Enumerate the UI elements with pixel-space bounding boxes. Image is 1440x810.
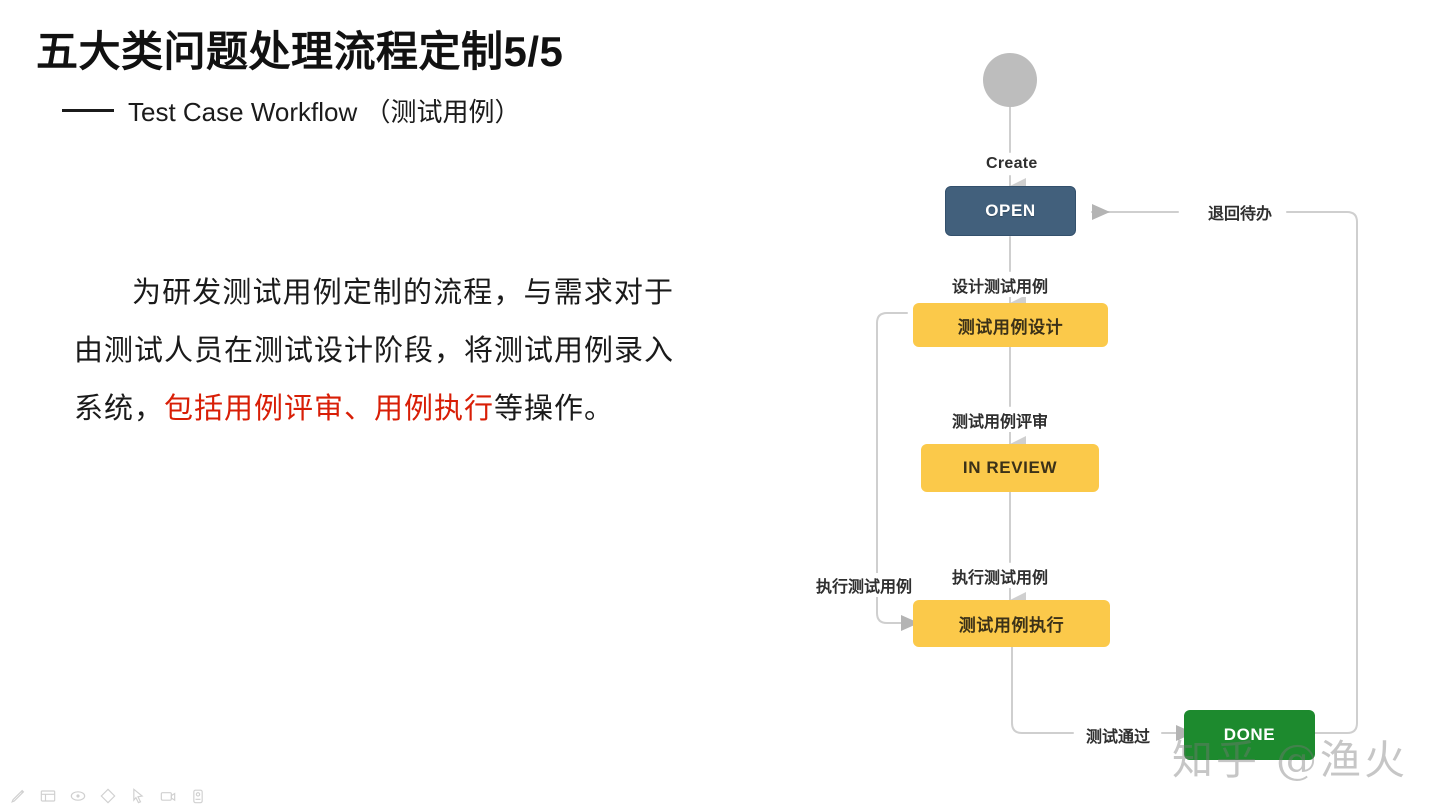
workflow-node-test-case-execute[interactable]: 测试用例执行: [913, 600, 1110, 647]
transition-label-design-case: 设计测试用例: [947, 273, 1053, 297]
body-highlight: 包括用例评审、用例执行: [164, 391, 494, 425]
subtitle-text: Test Case Workflow （测试用例）: [128, 92, 520, 129]
em-dash-rule: [62, 109, 114, 112]
transition-label-return-todo: 退回待办: [1203, 200, 1277, 224]
body-paragraph: 为研发测试用例定制的流程，与需求对于由测试人员在测试设计阶段，将测试用例录入系统…: [74, 263, 674, 437]
transition-label-review-case: 测试用例评审: [947, 408, 1053, 432]
workflow-start-circle: [983, 53, 1037, 107]
transition-label-execute-case-mid: 执行测试用例: [947, 564, 1053, 588]
test-case-workflow-diagram: Create OPEN 设计测试用例 测试用例设计 测试用例评审 IN REVI…: [770, 0, 1440, 790]
body-part-2: 等操作。: [494, 391, 614, 425]
cursor-icon[interactable]: [128, 786, 148, 806]
page-title: 五大类问题处理流程定制5/5: [36, 18, 563, 79]
device-icon[interactable]: [188, 786, 208, 806]
annotation-toolbar[interactable]: [8, 786, 208, 806]
whiteboard-icon[interactable]: [38, 786, 58, 806]
transition-label-execute-case-left: 执行测试用例: [811, 573, 917, 597]
workflow-node-test-case-design[interactable]: 测试用例设计: [913, 303, 1108, 347]
pen-icon[interactable]: [8, 786, 28, 806]
workflow-node-done[interactable]: DONE: [1184, 710, 1315, 760]
workflow-connectors: [770, 0, 1440, 790]
transition-label-test-passed: 测试通过: [1081, 723, 1155, 747]
eraser-icon[interactable]: [98, 786, 118, 806]
presentation-slide: 五大类问题处理流程定制5/5 Test Case Workflow （测试用例）…: [0, 0, 1440, 810]
page-subtitle: Test Case Workflow （测试用例）: [62, 92, 520, 129]
ellipse-icon[interactable]: [68, 786, 88, 806]
workflow-node-open[interactable]: OPEN: [945, 186, 1076, 236]
video-icon[interactable]: [158, 786, 178, 806]
workflow-node-in-review[interactable]: IN REVIEW: [921, 444, 1099, 492]
transition-label-create: Create: [981, 155, 1043, 173]
